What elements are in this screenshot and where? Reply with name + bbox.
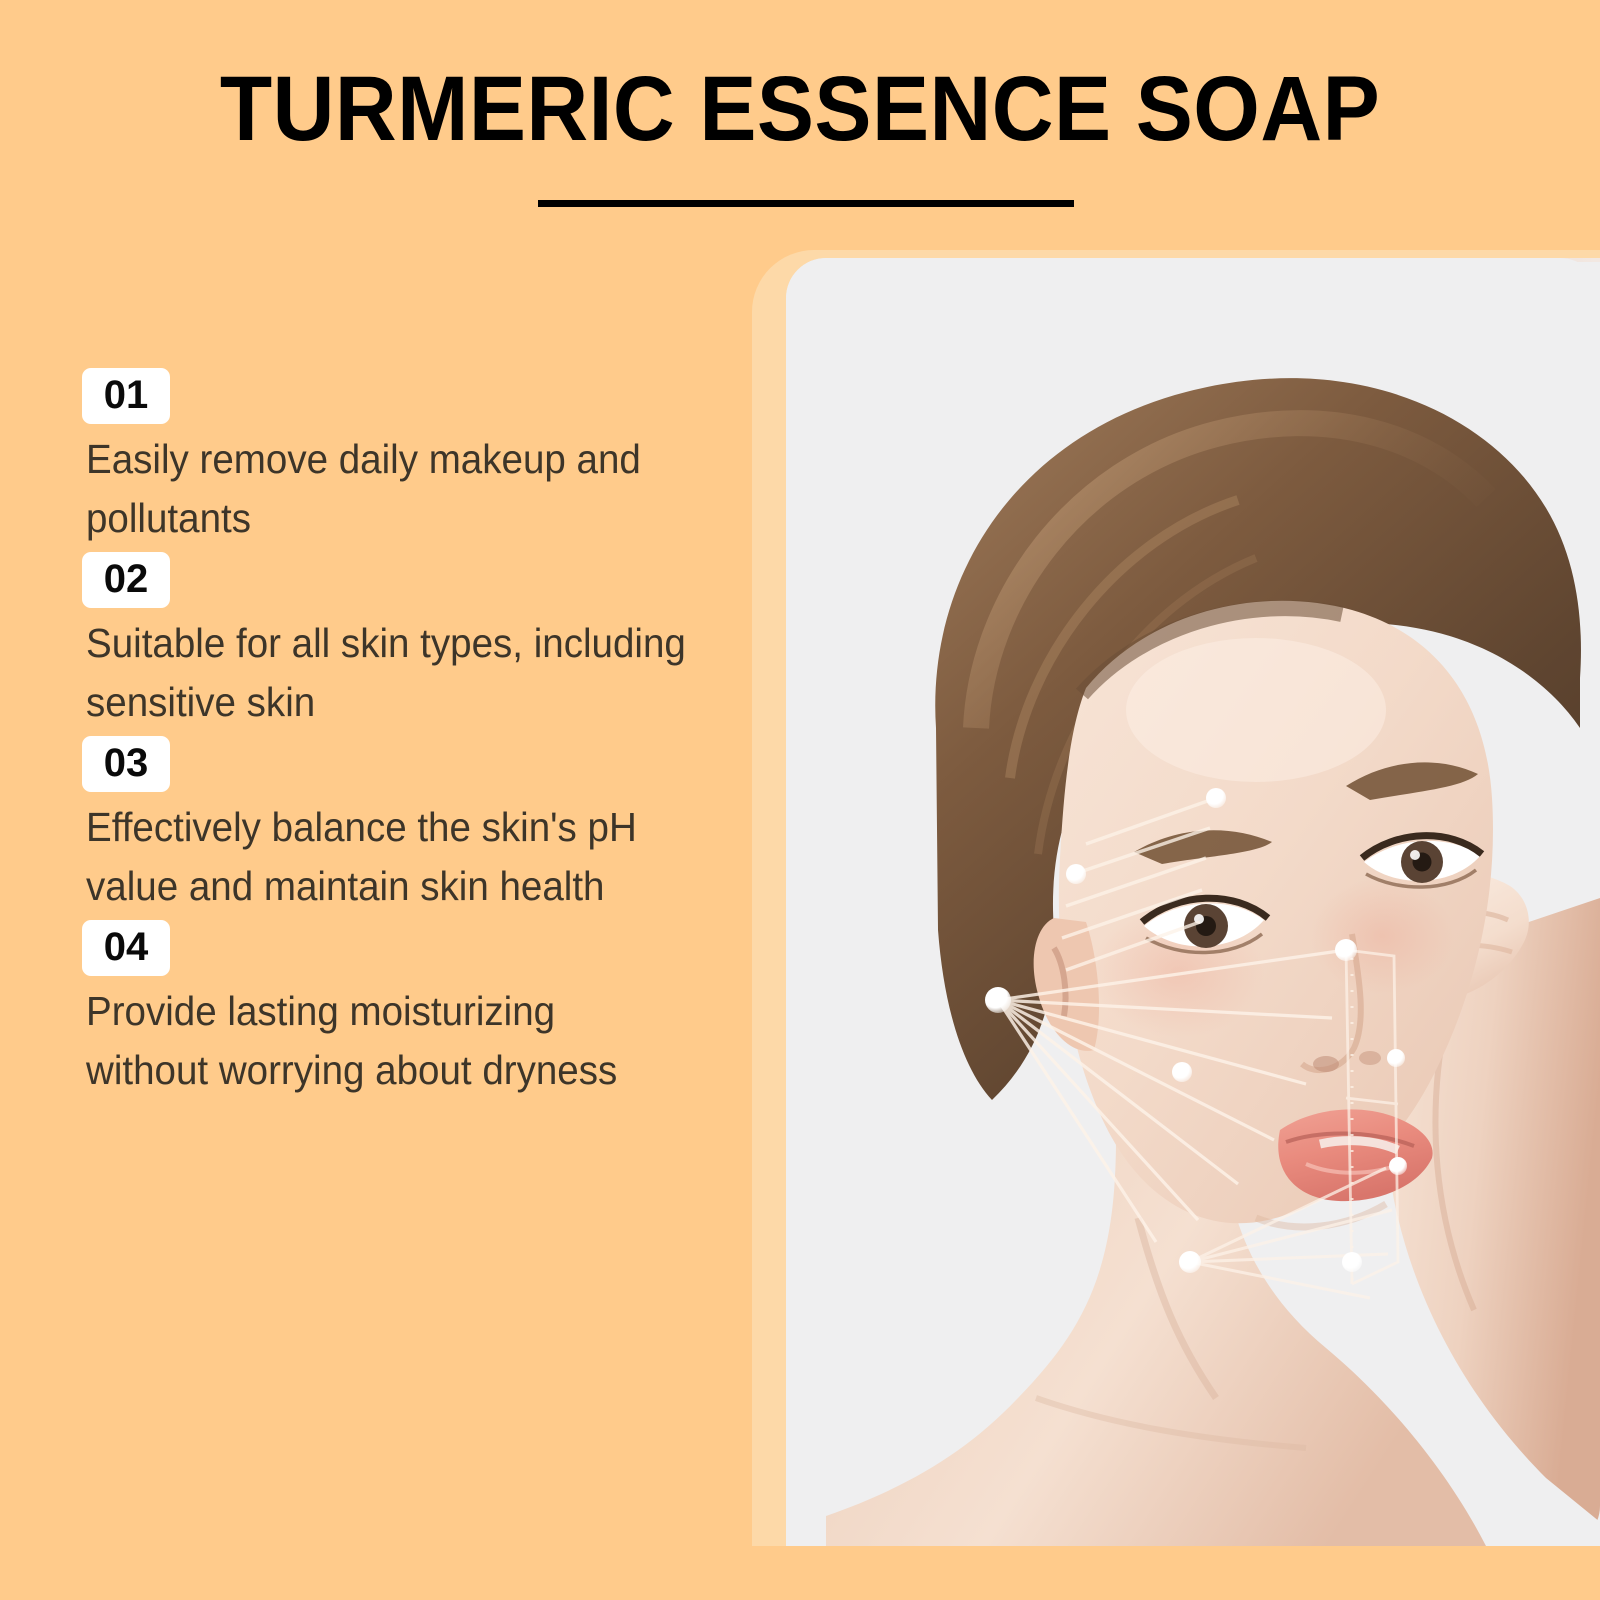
feature-number-badge-02: 02 — [82, 552, 170, 608]
feature-text-04: Provide lasting moisturizing without wor… — [86, 982, 688, 1100]
feature-text-03: Effectively balance the skin's pH value … — [86, 798, 688, 916]
header: TURMERIC ESSENCE SOAP — [0, 0, 1600, 240]
eye-right — [1362, 836, 1482, 887]
feature-item-01: 01 Easily remove daily makeup and pollut… — [82, 368, 694, 548]
feature-text-01: Easily remove daily makeup and pollutant… — [86, 430, 688, 548]
feature-text-02: Suitable for all skin types, including s… — [86, 614, 688, 732]
feature-number-badge-04: 04 — [82, 920, 170, 976]
feature-number-badge-03: 03 — [82, 736, 170, 792]
feature-number-badge-01: 01 — [82, 368, 170, 424]
title-underline-rule — [538, 200, 1074, 207]
page-title: TURMERIC ESSENCE SOAP — [56, 58, 1544, 160]
feature-list: 01 Easily remove daily makeup and pollut… — [82, 368, 694, 1104]
photo-card — [752, 250, 1600, 1546]
feature-item-02: 02 Suitable for all skin types, includin… — [82, 552, 694, 732]
photo-frame — [786, 258, 1600, 1546]
feature-item-04: 04 Provide lasting moisturizing without … — [82, 920, 694, 1100]
model-photo — [786, 258, 1600, 1546]
feature-item-03: 03 Effectively balance the skin's pH val… — [82, 736, 694, 916]
